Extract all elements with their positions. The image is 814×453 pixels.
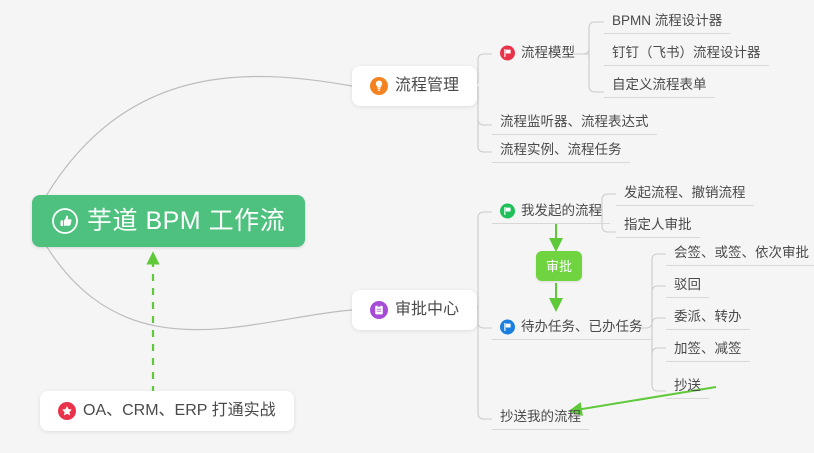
topic-start-cancel-process[interactable]: 发起流程、撤销流程 xyxy=(616,183,754,206)
flag-icon xyxy=(500,203,515,218)
approval-badge[interactable]: 审批 xyxy=(536,251,582,281)
topic-label: 加签、减签 xyxy=(674,342,742,356)
topic-label: 抄送 xyxy=(674,379,701,393)
branch-label: 流程管理 xyxy=(395,78,459,94)
clipboard-icon xyxy=(370,301,388,319)
topic-label: 抄送我的流程 xyxy=(500,410,581,424)
topic-process-model[interactable]: 流程模型 xyxy=(492,42,583,65)
topic-cc-to-me-process[interactable]: 抄送我的流程 xyxy=(492,407,589,430)
topic-label: 指定人审批 xyxy=(624,218,692,232)
topic-reject[interactable]: 驳回 xyxy=(666,275,709,298)
topic-countersign-or-sequential[interactable]: 会签、或签、依次审批 xyxy=(666,243,814,266)
star-icon xyxy=(58,402,76,420)
topic-label: 我发起的流程 xyxy=(521,204,602,218)
topic-label: 自定义流程表单 xyxy=(612,78,707,92)
branch-approval-center[interactable]: 审批中心 xyxy=(352,290,477,330)
badge-label: 审批 xyxy=(546,260,572,273)
topic-label: 待办任务、已办任务 xyxy=(521,320,643,334)
topic-carbon-copy[interactable]: 抄送 xyxy=(666,376,709,399)
branch-process-management[interactable]: 流程管理 xyxy=(352,66,477,106)
topic-custom-process-form[interactable]: 自定义流程表单 xyxy=(604,75,715,98)
thumbs-up-icon xyxy=(52,208,78,234)
topic-dingtalk-feishu-designer[interactable]: 钉钉（飞书）流程设计器 xyxy=(604,43,769,66)
topic-label: 流程模型 xyxy=(521,46,575,60)
topic-assignee-approval[interactable]: 指定人审批 xyxy=(616,215,700,238)
flag-icon xyxy=(500,45,515,60)
topic-delegate-transfer[interactable]: 委派、转办 xyxy=(666,307,750,330)
topic-label: 流程实例、流程任务 xyxy=(500,143,622,157)
topic-label: 委派、转办 xyxy=(674,310,742,324)
flag-icon xyxy=(500,319,515,334)
root-node[interactable]: 芋道 BPM 工作流 xyxy=(32,195,305,247)
topic-process-listener[interactable]: 流程监听器、流程表达式 xyxy=(492,112,657,135)
topic-label: 钉钉（飞书）流程设计器 xyxy=(612,46,761,60)
topic-label: BPMN 流程设计器 xyxy=(612,14,722,28)
topic-label: 发起流程、撤销流程 xyxy=(624,186,746,200)
topic-label: 流程监听器、流程表达式 xyxy=(500,115,649,129)
topic-process-instance-task[interactable]: 流程实例、流程任务 xyxy=(492,140,630,163)
topic-label: 驳回 xyxy=(674,278,701,292)
topic-my-initiated-process[interactable]: 我发起的流程 xyxy=(492,200,610,224)
node-oa-crm-erp[interactable]: OA、CRM、ERP 打通实战 xyxy=(40,391,294,431)
root-label: 芋道 BPM 工作流 xyxy=(87,209,285,234)
topic-bpmn-designer[interactable]: BPMN 流程设计器 xyxy=(604,11,730,34)
node-label: OA、CRM、ERP 打通实战 xyxy=(83,403,276,419)
mindmap-canvas: 芋道 BPM 工作流 流程管理 流程模型 BPMN 流程设计器 钉钉（飞书）流程 xyxy=(0,0,814,453)
topic-todo-done-tasks[interactable]: 待办任务、已办任务 xyxy=(492,316,651,340)
topic-label: 会签、或签、依次审批 xyxy=(674,246,809,260)
lightbulb-icon xyxy=(370,77,388,95)
branch-label: 审批中心 xyxy=(395,302,459,318)
topic-add-remove-sign[interactable]: 加签、减签 xyxy=(666,339,750,362)
